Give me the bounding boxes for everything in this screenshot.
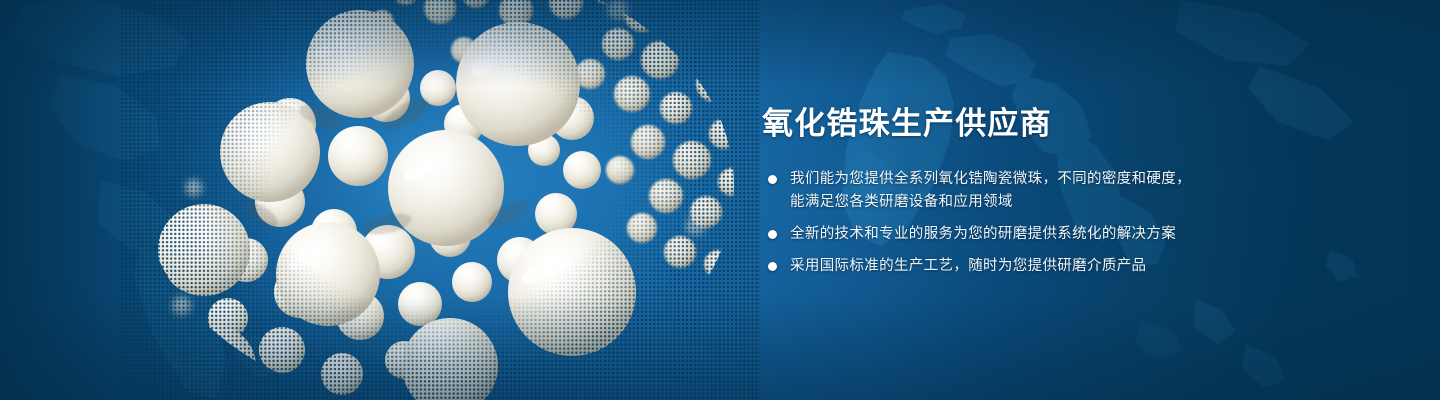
banner-bullet-list: 我们能为您提供全系列氧化锆陶瓷微珠，不同的密度和硬度， 能满足您各类研磨设备和应… bbox=[762, 168, 1362, 278]
bullet-line-1: 全新的技术和专业的服务为您的研磨提供系统化的解决方案 bbox=[790, 223, 1362, 246]
banner-bullet-item: 我们能为您提供全系列氧化锆陶瓷微珠，不同的密度和硬度， 能满足您各类研磨设备和应… bbox=[762, 168, 1362, 214]
bullet-dot-icon bbox=[768, 175, 777, 184]
bullet-line-1: 我们能为您提供全系列氧化锆陶瓷微珠，不同的密度和硬度， bbox=[790, 168, 1362, 191]
bullet-line-2: 能满足您各类研磨设备和应用领域 bbox=[790, 191, 1362, 214]
banner-copy-block: 氧化锆珠生产供应商 我们能为您提供全系列氧化锆陶瓷微珠，不同的密度和硬度， 能满… bbox=[762, 104, 1362, 278]
bullet-dot-icon bbox=[768, 230, 777, 239]
banner-bullet-item: 采用国际标准的生产工艺，随时为您提供研磨介质产品 bbox=[762, 255, 1362, 278]
banner-bullet-item: 全新的技术和专业的服务为您的研磨提供系统化的解决方案 bbox=[762, 223, 1362, 246]
banner-headline: 氧化锆珠生产供应商 bbox=[762, 104, 1362, 144]
bullet-line-1: 采用国际标准的生产工艺，随时为您提供研磨介质产品 bbox=[790, 255, 1362, 278]
bullet-dot-icon bbox=[768, 262, 777, 271]
hero-banner: 氧化锆珠生产供应商 我们能为您提供全系列氧化锆陶瓷微珠，不同的密度和硬度， 能满… bbox=[0, 0, 1440, 400]
